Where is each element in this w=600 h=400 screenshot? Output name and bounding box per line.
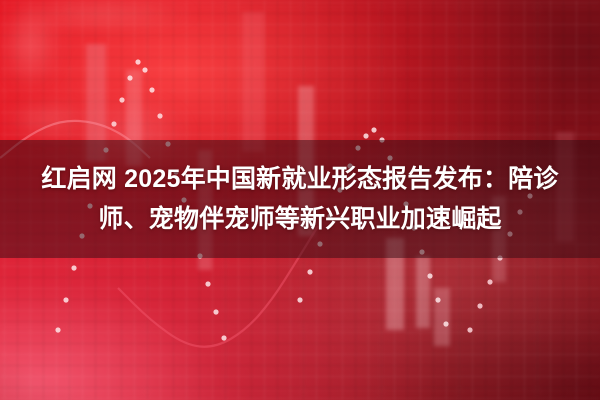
- banner-image: 红启网 2025年中国新就业形态报告发布：陪诊师、宠物伴宠师等新兴职业加速崛起: [0, 0, 600, 400]
- headline-container: 红启网 2025年中国新就业形态报告发布：陪诊师、宠物伴宠师等新兴职业加速崛起: [0, 140, 600, 258]
- headline-text: 红启网 2025年中国新就业形态报告发布：陪诊师、宠物伴宠师等新兴职业加速崛起: [22, 159, 578, 239]
